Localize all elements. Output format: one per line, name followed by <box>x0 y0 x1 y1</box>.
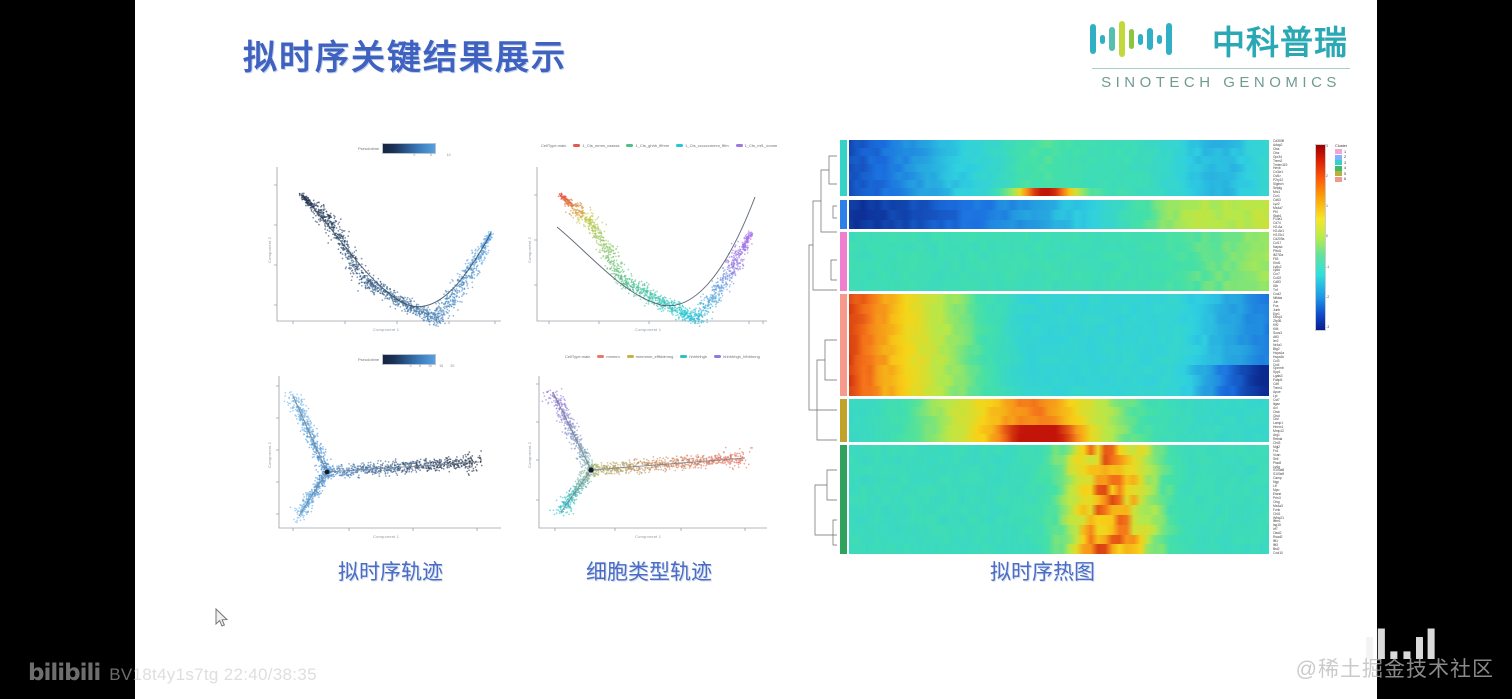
cluster-annotation-segment <box>840 232 847 290</box>
heatmap-row <box>849 304 1269 314</box>
row-dendrogram <box>807 140 839 556</box>
heatmap-row <box>849 210 1269 220</box>
heatmap-row <box>849 294 1269 304</box>
scatter-canvas-1 <box>263 155 508 335</box>
cluster-swatch <box>1335 155 1342 160</box>
colorbar-tick: 2 <box>1326 174 1329 178</box>
heatmap-row <box>849 345 1269 355</box>
logo-barcode-mark <box>1090 16 1208 62</box>
cluster-label: 6 <box>1344 177 1346 181</box>
gene-label: Cxcl10 <box>1273 552 1287 555</box>
heatmap-row <box>849 355 1269 365</box>
scatter-canvas-4 <box>523 360 773 540</box>
heatmap-row <box>849 140 1269 148</box>
heatmap-body <box>849 140 1269 556</box>
heatmap-colorbar <box>1315 144 1326 331</box>
cluster-legend-entry: 1 <box>1335 149 1347 154</box>
cluster-swatch <box>1335 171 1342 176</box>
heatmap-block <box>849 140 1269 196</box>
colorbar-tick: 0 <box>1326 234 1329 238</box>
heatmap-row <box>849 425 1269 434</box>
heatmap-row <box>849 495 1269 505</box>
legend-entry: hhhhhhgh <box>680 354 707 359</box>
heatmap-row <box>849 324 1269 334</box>
cluster-swatch <box>1335 166 1342 171</box>
heatmap-row <box>849 416 1269 425</box>
logo-divider <box>1092 68 1350 69</box>
cluster-legend-title: Cluster <box>1335 144 1347 148</box>
heatmap-row <box>849 485 1269 495</box>
chart-celltype-linear: CellType.main 1_Cts_mmm_cassss 1_Cts_ghh… <box>523 155 773 335</box>
heatmap-row <box>849 399 1269 408</box>
heatmap-row <box>849 407 1269 416</box>
heatmap-row <box>849 242 1269 252</box>
heatmap-row <box>849 525 1269 535</box>
cluster-annotation-segment <box>840 200 847 229</box>
heatmap-block <box>849 399 1269 443</box>
page-title: 拟时序关键结果展示 <box>243 30 567 79</box>
legend-entry: 1_Cts_ccccccmmm_fffm <box>676 143 728 148</box>
heatmap-row <box>849 148 1269 156</box>
colorbar-tick: -3 <box>1326 325 1329 329</box>
heatmap-row <box>849 335 1269 345</box>
cluster-swatch <box>1335 177 1342 182</box>
heatmap-row <box>849 271 1269 281</box>
cluster-annotation-segment <box>840 399 847 443</box>
heatmap-block <box>849 232 1269 290</box>
cluster-swatch <box>1335 149 1342 154</box>
chart-pseudotime-linear: Pseudotime 0 5 10 Component 1 Component … <box>263 155 508 335</box>
legend-entry: 1_Cts_mf1_oomm <box>736 143 778 148</box>
legend-celltype-1: CellType.main 1_Cts_mmm_cassss 1_Cts_ghh… <box>541 143 777 148</box>
heatmap-row <box>849 475 1269 485</box>
logo-english-name: SINOTECH GENOMICS <box>1092 74 1350 91</box>
caption-pseudotime-trajectory: 拟时序轨迹 <box>338 556 443 586</box>
heatmap-row <box>849 544 1269 554</box>
heatmap-row <box>849 314 1269 324</box>
cluster-legend-entry: 5 <box>1335 171 1347 176</box>
heatmap-row <box>849 200 1269 210</box>
heatmap-row <box>849 180 1269 188</box>
scatter-canvas-3 <box>263 360 508 540</box>
caption-celltype-trajectory: 细胞类型轨迹 <box>586 556 712 586</box>
caption-pseudotime-heatmap: 拟时序热图 <box>990 556 1095 586</box>
cluster-swatch <box>1335 160 1342 165</box>
cluster-annotation-segment <box>840 445 847 554</box>
logo-chinese-name: 中科普瑞 <box>1212 16 1348 64</box>
legend-ticks-1: 0 5 10 <box>406 153 458 157</box>
mouse-cursor <box>215 608 229 628</box>
legend-ticks-2: 0 5 10 15 20 <box>406 364 458 368</box>
legend-entry: mmmm <box>597 354 619 359</box>
colorbar-tick: 1 <box>1326 204 1329 208</box>
legend-entry: mmmmm_efffddmmg <box>627 354 674 359</box>
cluster-label: 2 <box>1344 155 1346 159</box>
cluster-legend-entry: 4 <box>1335 166 1347 171</box>
heatmap-block <box>849 445 1269 554</box>
cluster-label: 1 <box>1344 150 1346 154</box>
colorbar-tick: 3 <box>1326 144 1329 148</box>
heatmap-row <box>849 172 1269 180</box>
heatmap-row <box>849 445 1269 455</box>
gene-label-list: Cd300lfAdap2CtssCtszGpr34Trem2Tmem119Hex… <box>1273 140 1287 556</box>
heatmap-row <box>849 156 1269 164</box>
heatmap-row <box>849 188 1269 196</box>
colorbar-tick: -1 <box>1326 265 1329 269</box>
heatmap-row <box>849 281 1269 291</box>
legend-entry: hhhhhhgh_hfhhhnng <box>714 354 760 359</box>
heatmap-row <box>849 515 1269 525</box>
heatmap-block <box>849 200 1269 229</box>
chart-pseudotime-branched: Pseudotime 0 5 10 15 20 <box>263 360 508 540</box>
heatmap-row <box>849 375 1269 385</box>
cluster-annotation-segment <box>840 140 847 196</box>
colorbar-tick: -2 <box>1326 295 1329 299</box>
cluster-annotation-bar <box>840 140 847 556</box>
heatmap-row <box>849 164 1269 172</box>
heatmap-row <box>849 365 1269 375</box>
legend-entry: 1_Cts_ghhb_fffmm <box>626 143 669 148</box>
chart-celltype-branched: CellType.main mmmm mmmmm_efffddmmg hhhhh… <box>523 360 773 540</box>
heatmap-row <box>849 252 1269 262</box>
cluster-label: 5 <box>1344 172 1346 176</box>
cluster-annotation-segment <box>840 294 847 396</box>
colorbar-ticks: 3210-1-2-3 <box>1326 144 1329 329</box>
heatmap-row <box>849 455 1269 465</box>
cluster-legend-entry: 3 <box>1335 160 1347 165</box>
heatmap-row <box>849 386 1269 396</box>
heatmap-row <box>849 220 1269 230</box>
heatmap-block <box>849 294 1269 396</box>
cluster-label: 4 <box>1344 166 1346 170</box>
scatter-canvas-2 <box>523 155 773 335</box>
heatmap-row <box>849 232 1269 242</box>
heatmap-row <box>849 505 1269 515</box>
legend-celltype-2: CellType.main mmmm mmmmm_efffddmmg hhhhh… <box>565 354 760 359</box>
heatmap-row <box>849 434 1269 443</box>
cluster-label: 3 <box>1344 161 1346 165</box>
cluster-legend: Cluster123456 <box>1335 144 1347 182</box>
bilibili-logo: bilibili <box>28 662 100 685</box>
cluster-legend-entry: 6 <box>1335 177 1347 182</box>
video-player: 拟时序关键结果展示 中科普瑞 SINOTECH GENOMICS 无分支 有分支… <box>0 0 1512 699</box>
legend-entry: 1_Cts_mmm_cassss <box>573 143 619 148</box>
company-logo: 中科普瑞 SINOTECH GENOMICS <box>1090 10 1355 102</box>
heatmap-row <box>849 465 1269 475</box>
heatmap-row <box>849 261 1269 271</box>
cluster-legend-entry: 2 <box>1335 155 1347 160</box>
slide-canvas: 拟时序关键结果展示 中科普瑞 SINOTECH GENOMICS 无分支 有分支… <box>135 0 1377 699</box>
heatmap-row <box>849 535 1269 545</box>
chart-pseudotime-heatmap: Cd300lfAdap2CtssCtszGpr34Trem2Tmem119Hex… <box>807 138 1352 558</box>
